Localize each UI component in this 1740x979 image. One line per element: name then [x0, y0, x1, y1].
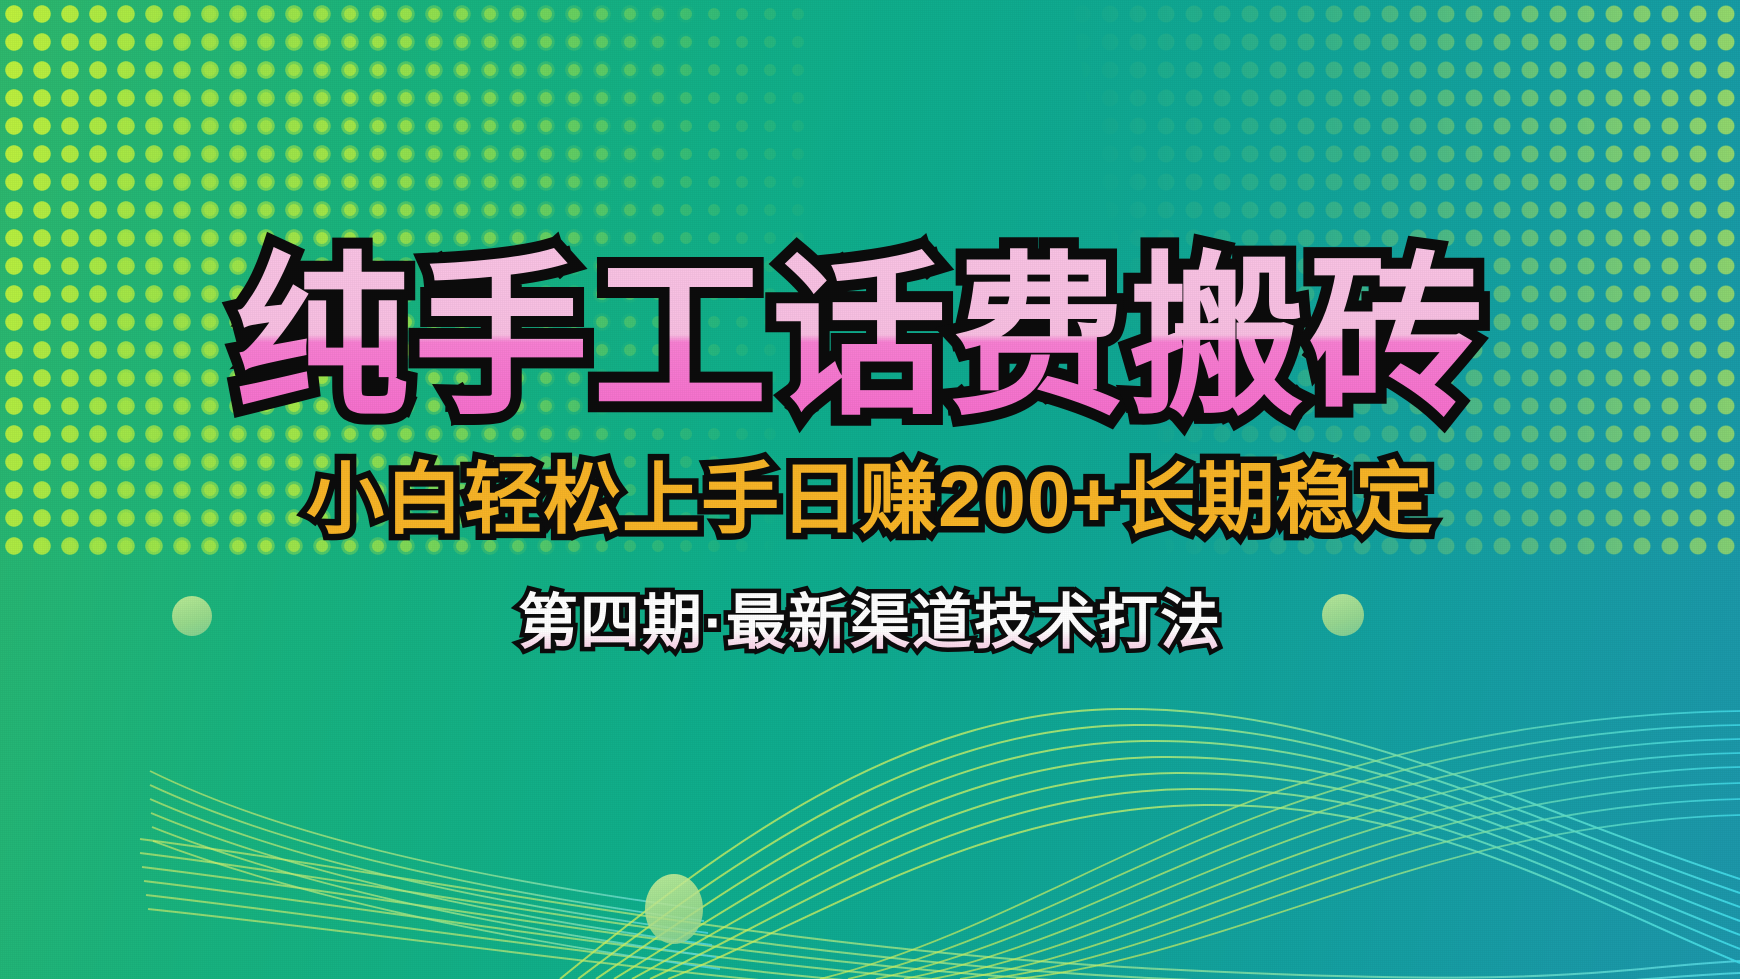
- tagline-fill: 第四期·最新渠道技术打法: [518, 589, 1222, 656]
- subtitle: 小白轻松上手日赚200+长期稳定 小白轻松上手日赚200+长期稳定: [0, 457, 1740, 543]
- poster-text-stack: 纯手工话费搬砖 纯手工话费搬砖 小白轻松上手日赚200+长期稳定 小白轻松上手日…: [0, 250, 1740, 656]
- headline-fill: 纯手工话费搬砖: [235, 241, 1488, 436]
- tagline: 第四期·最新渠道技术打法 第四期·最新渠道技术打法: [0, 590, 1740, 656]
- flowing-wave-lines: [0, 639, 1740, 979]
- subtitle-fill: 小白轻松上手日赚200+长期稳定: [306, 455, 1434, 543]
- decorative-circle-large: [645, 874, 703, 944]
- headline: 纯手工话费搬砖 纯手工话费搬砖: [0, 250, 1740, 429]
- promo-poster: 纯手工话费搬砖 纯手工话费搬砖 小白轻松上手日赚200+长期稳定 小白轻松上手日…: [0, 0, 1740, 979]
